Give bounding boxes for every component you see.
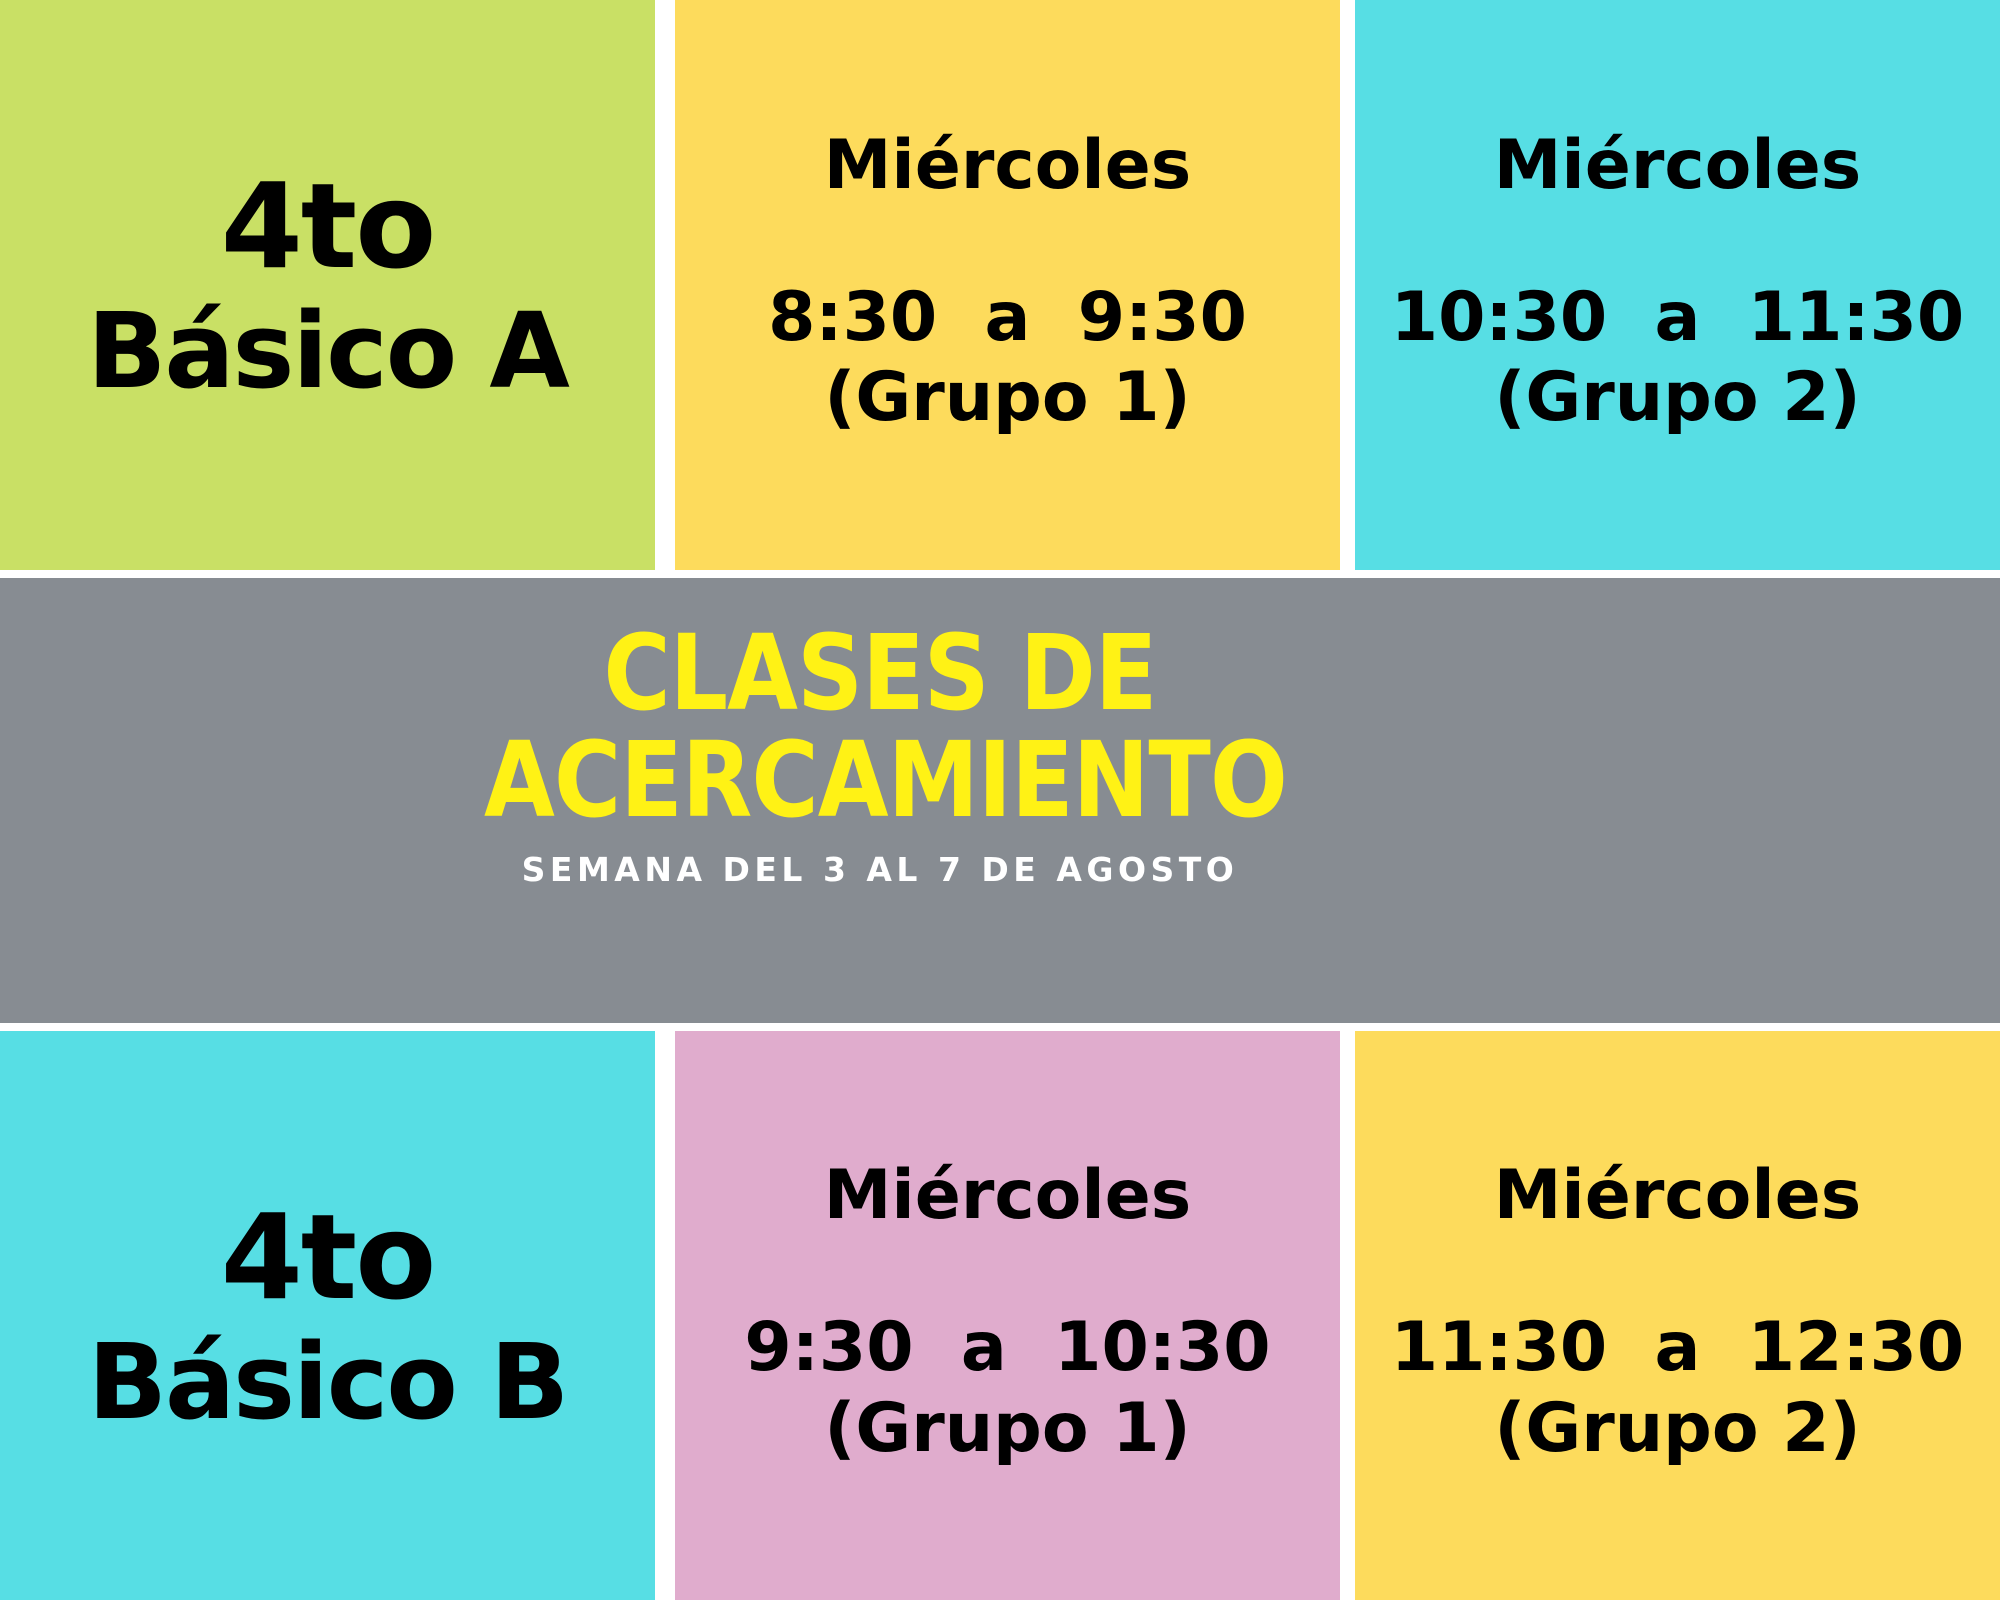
session-group: (Grupo 1) xyxy=(824,1389,1190,1469)
session-group: (Grupo 2) xyxy=(1494,358,1860,438)
grade-cell-row0: 4to Básico A xyxy=(0,0,655,570)
session-day: Miércoles xyxy=(1494,1162,1862,1230)
grade-cell-row1: 4to Básico B xyxy=(0,1031,655,1600)
session-cell-row0-col0: Miércoles 8:30 a 9:30 (Grupo 1) xyxy=(675,0,1340,570)
banner-subtitle: SEMANA DEL 3 AL 7 DE AGOSTO xyxy=(430,850,1330,889)
session-cell-row1-col1: Miércoles 11:30 a 12:30 (Grupo 2) xyxy=(1355,1031,2000,1600)
grade-name: Básico B xyxy=(88,1330,568,1434)
banner: CISA ARICA CLASES DE ACERCAMIENTO SEMANA… xyxy=(0,578,2000,1023)
session-time: 10:30 a 11:30 xyxy=(1391,278,1964,358)
banner-title-line-1: CLASES DE xyxy=(484,620,1276,727)
grade-number: 4to xyxy=(221,167,435,285)
grade-name: Básico A xyxy=(87,299,568,403)
session-cell-row0-col1: Miércoles 10:30 a 11:30 (Grupo 2) xyxy=(1355,0,2000,570)
session-time: 8:30 a 9:30 xyxy=(768,278,1247,358)
class-schedule-poster: 4to Básico A Miércoles 8:30 a 9:30 (Grup… xyxy=(0,0,2000,1600)
banner-title-block: CLASES DE ACERCAMIENTO SEMANA DEL 3 AL 7… xyxy=(430,620,1330,889)
session-group: (Grupo 1) xyxy=(824,358,1190,438)
session-time: 9:30 a 10:30 xyxy=(744,1308,1270,1388)
session-day: Miércoles xyxy=(824,132,1192,200)
banner-title-line-2: ACERCAMIENTO xyxy=(484,727,1276,834)
session-cell-row1-col0: Miércoles 9:30 a 10:30 (Grupo 1) xyxy=(675,1031,1340,1600)
grade-number: 4to xyxy=(221,1198,435,1316)
session-day: Miércoles xyxy=(1494,132,1862,200)
session-group: (Grupo 2) xyxy=(1494,1389,1860,1469)
session-time: 11:30 a 12:30 xyxy=(1391,1308,1964,1388)
session-day: Miércoles xyxy=(824,1162,1192,1230)
